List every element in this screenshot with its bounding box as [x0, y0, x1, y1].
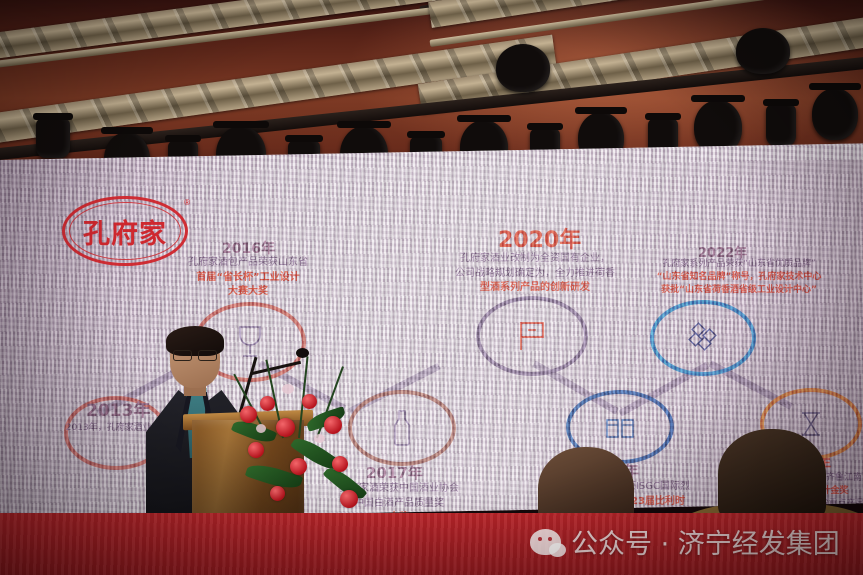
milestone-node-2020[interactable] [476, 296, 588, 376]
flag-icon [480, 300, 584, 372]
milestone-node-2022[interactable] [650, 300, 756, 376]
trademark-icon: ® [184, 198, 190, 207]
photo-scene: 2013年 2013年，孔府家酒业... 2016年 孔府家酒包产品荣获山东省 … [0, 0, 863, 575]
milestone-year-2020: 2020年 [498, 222, 581, 254]
glasses-icon [173, 350, 217, 359]
watermark-text: 公众号 · 济宁经发集团 [571, 522, 840, 561]
stage-light [766, 104, 796, 146]
bottle-icon [352, 394, 452, 462]
milestone-year-2017: 2017年 [366, 462, 423, 483]
diamonds-icon [654, 304, 752, 372]
stage-light-upper [736, 28, 790, 74]
stage-light [812, 88, 858, 140]
milestone-year-2016: 2016年 [222, 238, 275, 258]
wechat-icon [530, 529, 561, 555]
watermark: 公众号 · 济宁经发集团 [530, 522, 840, 561]
stage-light [36, 118, 70, 158]
floral-arrangement [236, 372, 366, 522]
logo-glyphs: 孔府家 [62, 196, 188, 266]
milestone-text-2022: 孔府家系列产品荣获“山东省优质品牌” “山东省知名品牌”称号，孔府家技术中心 获… [616, 258, 862, 297]
brand-logo: 孔府家 ® [62, 196, 188, 266]
stage-light-upper [496, 44, 550, 92]
